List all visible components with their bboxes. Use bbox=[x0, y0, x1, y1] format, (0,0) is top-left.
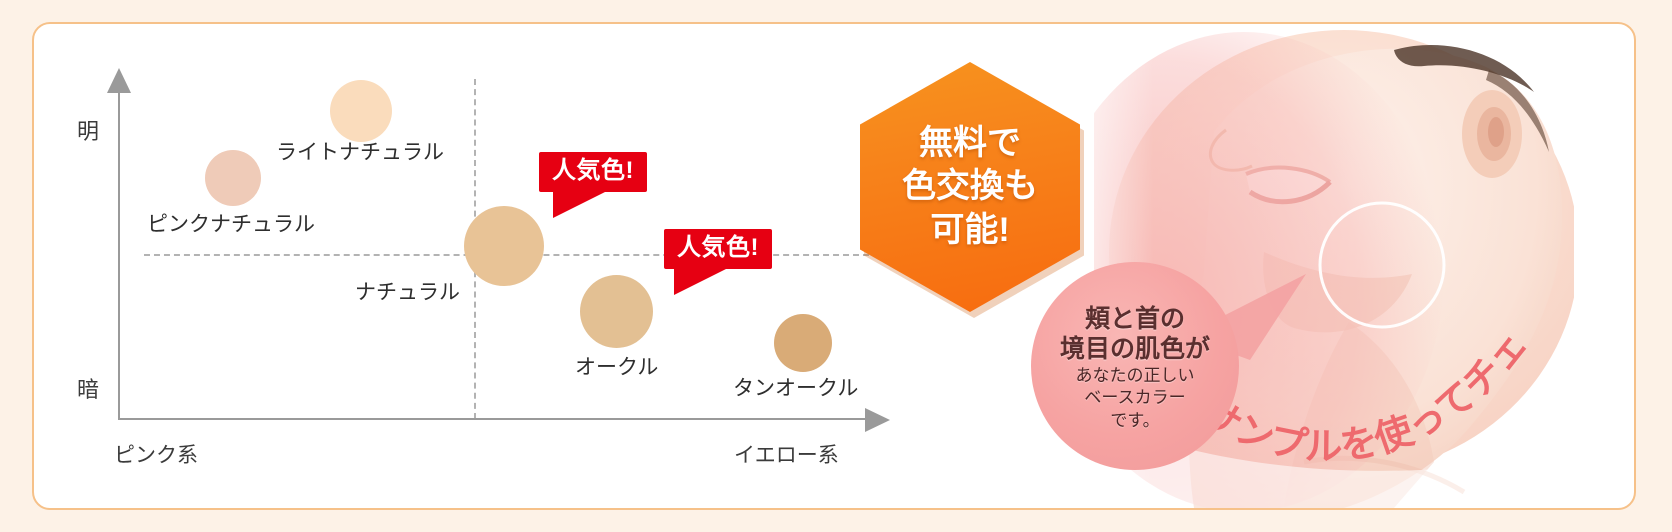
x-axis-line bbox=[118, 418, 868, 420]
pink-bubble-line-2: 境目の肌色が bbox=[1060, 334, 1210, 365]
popular-tag-natural: 人気色! bbox=[539, 152, 647, 192]
data-point-label-tan-ochre: タンオークル bbox=[733, 372, 858, 402]
badge-line-1: 無料で bbox=[919, 122, 1021, 166]
badge-line-2: 色交換も bbox=[902, 165, 1038, 209]
screenshot-root: 明 暗 ピンク系 イエロー系 ライトナチュラル ピンクナチュラル ナチュラル オ… bbox=[0, 0, 1672, 532]
data-point-light-natural[interactable] bbox=[330, 80, 392, 142]
pink-speech-bubble: 頬と首の 境目の肌色が あなたの正しい ベースカラー です。 bbox=[1031, 262, 1239, 470]
data-point-label-pink-natural: ピンクナチュラル bbox=[147, 208, 315, 238]
pink-bubble-line-3: あなたの正しい bbox=[1076, 365, 1195, 387]
pink-bubble-line-4: ベースカラー bbox=[1084, 387, 1185, 409]
y-axis-bottom-label: 暗 bbox=[77, 372, 99, 404]
data-point-label-natural: ナチュラル bbox=[355, 276, 460, 306]
x-axis-right-label: イエロー系 bbox=[734, 439, 839, 469]
data-point-ochre[interactable] bbox=[580, 275, 653, 348]
popular-tag-ochre-tail bbox=[674, 269, 726, 295]
badge-text: 無料で 色交換も 可能! bbox=[860, 62, 1080, 312]
y-axis-line bbox=[118, 90, 120, 420]
x-axis-left-label: ピンク系 bbox=[114, 439, 198, 469]
data-point-label-ochre: オークル bbox=[575, 351, 658, 381]
popular-tag-natural-text: 人気色! bbox=[552, 157, 634, 184]
free-color-exchange-badge[interactable]: 無料で 色交換も 可能! bbox=[860, 62, 1080, 312]
y-axis-top-label: 明 bbox=[77, 114, 99, 146]
arrow-right-icon bbox=[865, 408, 890, 432]
popular-tag-natural-tail bbox=[553, 192, 605, 218]
data-point-label-light-natural: ライトナチュラル bbox=[276, 136, 444, 166]
base-color-chart-card: 明 暗 ピンク系 イエロー系 ライトナチュラル ピンクナチュラル ナチュラル オ… bbox=[32, 22, 1636, 510]
arrow-up-icon bbox=[107, 68, 131, 93]
pink-bubble-line-5: です。 bbox=[1110, 410, 1159, 432]
data-point-tan-ochre[interactable] bbox=[774, 314, 832, 372]
popular-tag-ochre: 人気色! bbox=[664, 229, 772, 269]
skin-tone-scatter-chart: 明 暗 ピンク系 イエロー系 ライトナチュラル ピンクナチュラル ナチュラル オ… bbox=[34, 24, 934, 510]
data-point-natural[interactable] bbox=[464, 206, 544, 286]
popular-tag-ochre-text: 人気色! bbox=[677, 234, 759, 261]
pink-bubble-line-1: 頬と首の bbox=[1085, 304, 1185, 335]
data-point-pink-natural[interactable] bbox=[205, 150, 261, 206]
badge-line-3: 可能! bbox=[930, 209, 1009, 253]
